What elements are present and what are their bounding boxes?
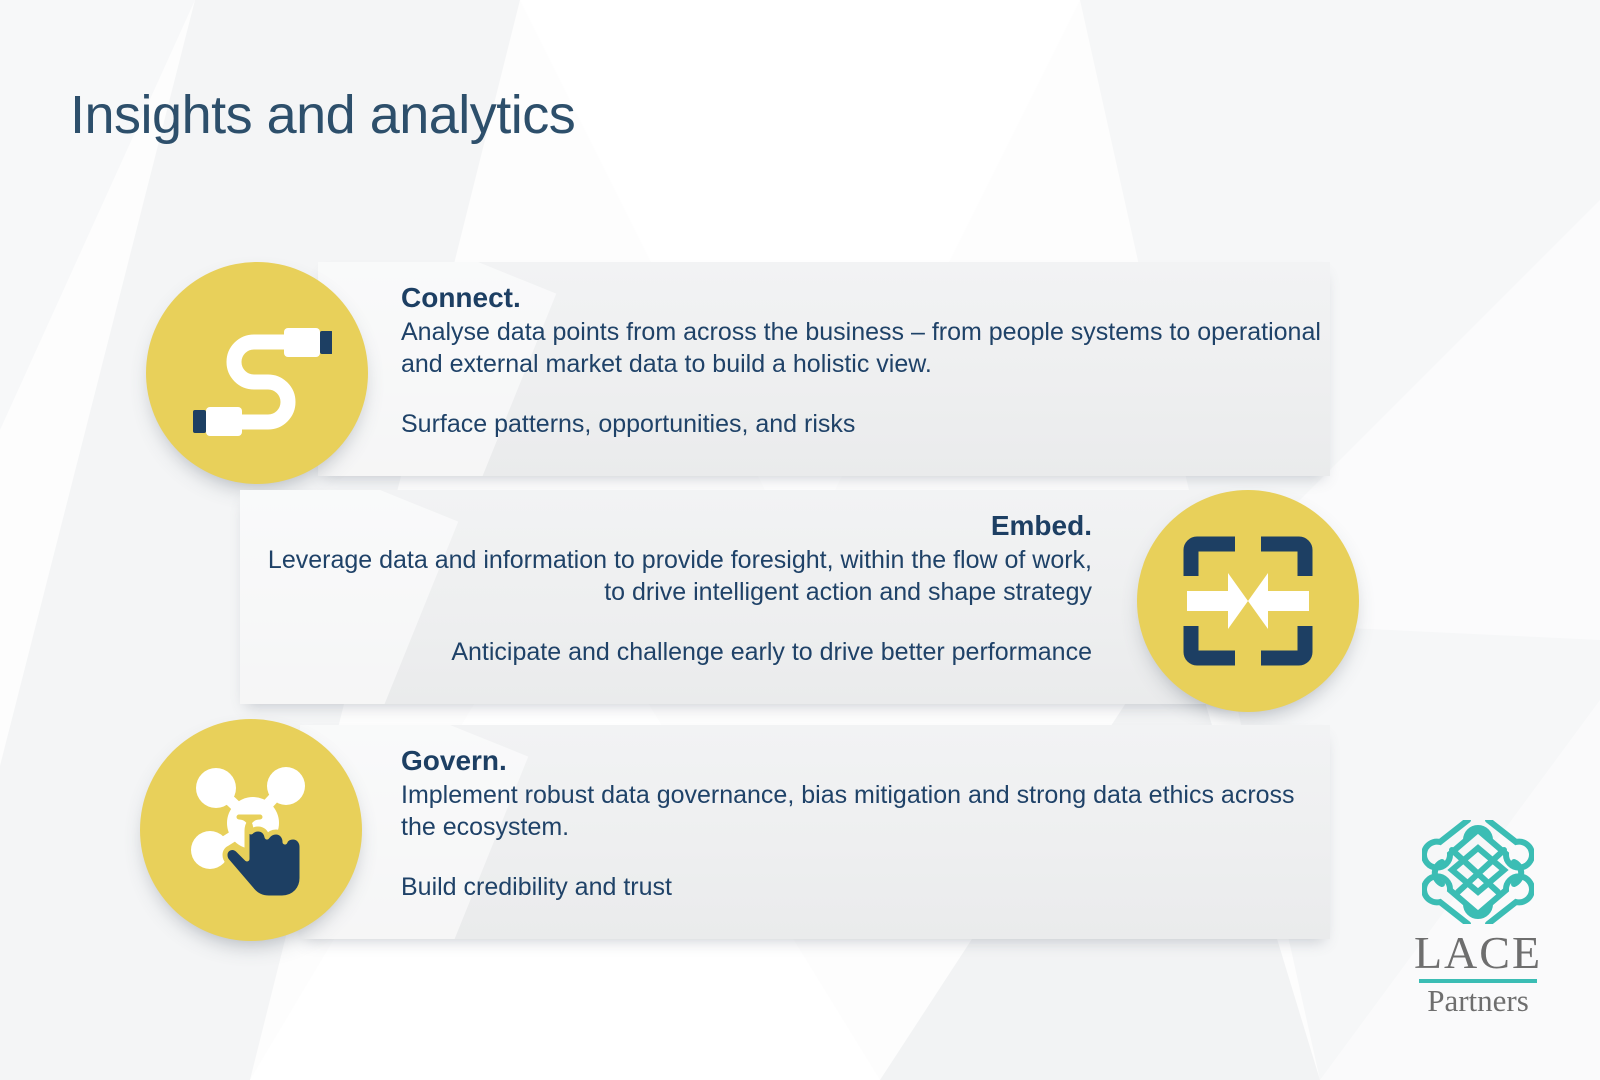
- text-column-govern: Govern. Implement robust data governance…: [401, 725, 1331, 939]
- heading-embed: Embed.: [250, 490, 1092, 542]
- heading-connect: Connect.: [401, 262, 1331, 314]
- icon-circle-embed[interactable]: [1137, 490, 1359, 712]
- tagline-connect: Surface patterns, opportunities, and ris…: [401, 380, 1331, 440]
- logo-secondary-text: Partners: [1398, 985, 1558, 1018]
- text-column-connect: Connect. Analyse data points from across…: [401, 262, 1331, 476]
- tagline-embed: Anticipate and challenge early to drive …: [250, 608, 1092, 668]
- celtic-knot-icon: [1422, 820, 1534, 924]
- tagline-govern: Build credibility and trust: [401, 843, 1331, 903]
- slide-canvas: Insights and analytics Connect. Analyse …: [0, 0, 1600, 1080]
- icon-circle-connect[interactable]: [146, 262, 368, 484]
- page-title: Insights and analytics: [70, 86, 575, 145]
- cable-plug-icon: [182, 298, 332, 448]
- row-embed: Embed. Leverage data and information to …: [0, 490, 1400, 704]
- icon-circle-govern[interactable]: [140, 719, 362, 941]
- lace-partners-logo: LACE Partners: [1398, 820, 1558, 1018]
- row-govern: Govern. Implement robust data governance…: [0, 725, 1400, 939]
- heading-govern: Govern.: [401, 725, 1331, 777]
- body-embed: Leverage data and information to provide…: [250, 542, 1092, 608]
- logo-primary-text: LACE: [1398, 930, 1558, 976]
- body-connect: Analyse data points from across the busi…: [401, 314, 1331, 380]
- body-govern: Implement robust data governance, bias m…: [401, 777, 1331, 843]
- text-column-embed: Embed. Leverage data and information to …: [250, 490, 1092, 704]
- arrows-converge-brackets-icon: [1175, 528, 1321, 674]
- row-connect: Connect. Analyse data points from across…: [0, 262, 1400, 476]
- network-nodes-hand-icon: [176, 755, 326, 905]
